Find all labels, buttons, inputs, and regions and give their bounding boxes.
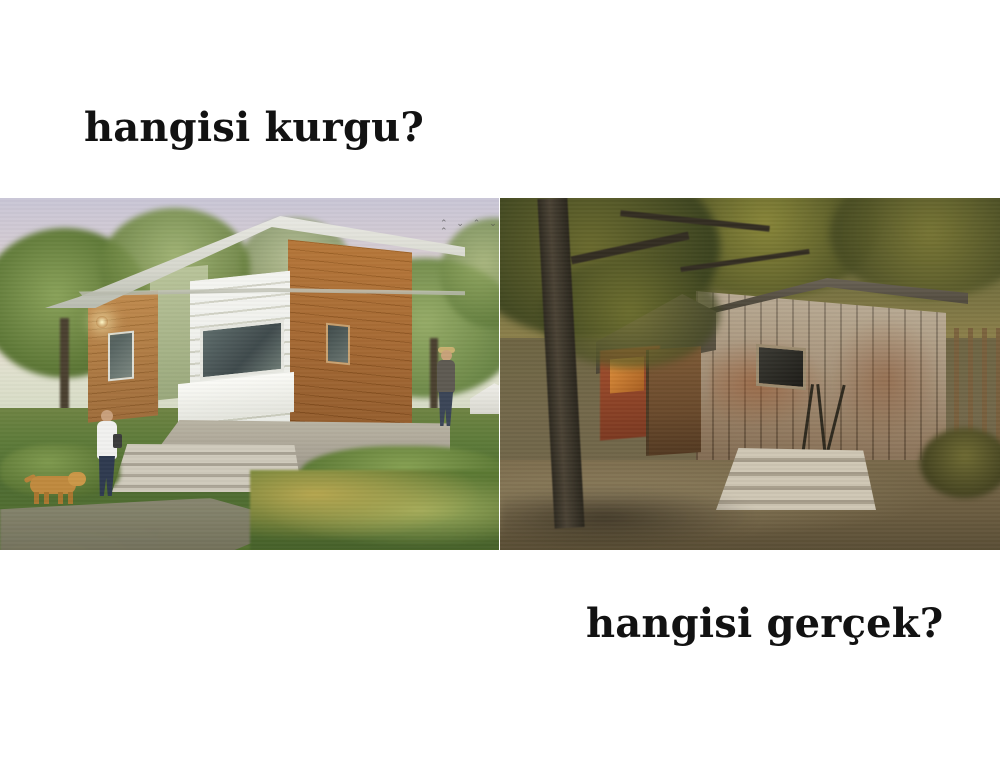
render-foreground-planting: [250, 470, 500, 550]
birds-icon: ⌃ ⌄ ⌃ ⌄ ⌃: [440, 220, 500, 262]
real-rust-stain-2: [830, 318, 940, 438]
render-person-walking: [92, 410, 122, 496]
page-title-top: hangisi kurgu?: [84, 104, 424, 151]
real-shrub: [920, 428, 1000, 498]
render-porch-light-icon: [96, 316, 108, 328]
slide-canvas: hangisi kurgu?: [0, 0, 1000, 764]
render-window-left: [108, 331, 134, 382]
render-wall-wood-right: [288, 239, 412, 452]
page-title-bottom: hangisi gerçek?: [586, 600, 943, 647]
real-window: [756, 344, 806, 390]
architectural-render-photo: ⌃ ⌄ ⌃ ⌄ ⌃: [0, 198, 500, 550]
render-person-standing: [434, 350, 458, 426]
render-window-small: [326, 323, 350, 366]
render-window-main: [200, 320, 284, 381]
render-dog: [24, 470, 88, 504]
real-shack-photo: [500, 198, 1000, 550]
real-ground-shadow: [500, 484, 760, 550]
image-band: ⌃ ⌄ ⌃ ⌄ ⌃: [0, 198, 1000, 550]
